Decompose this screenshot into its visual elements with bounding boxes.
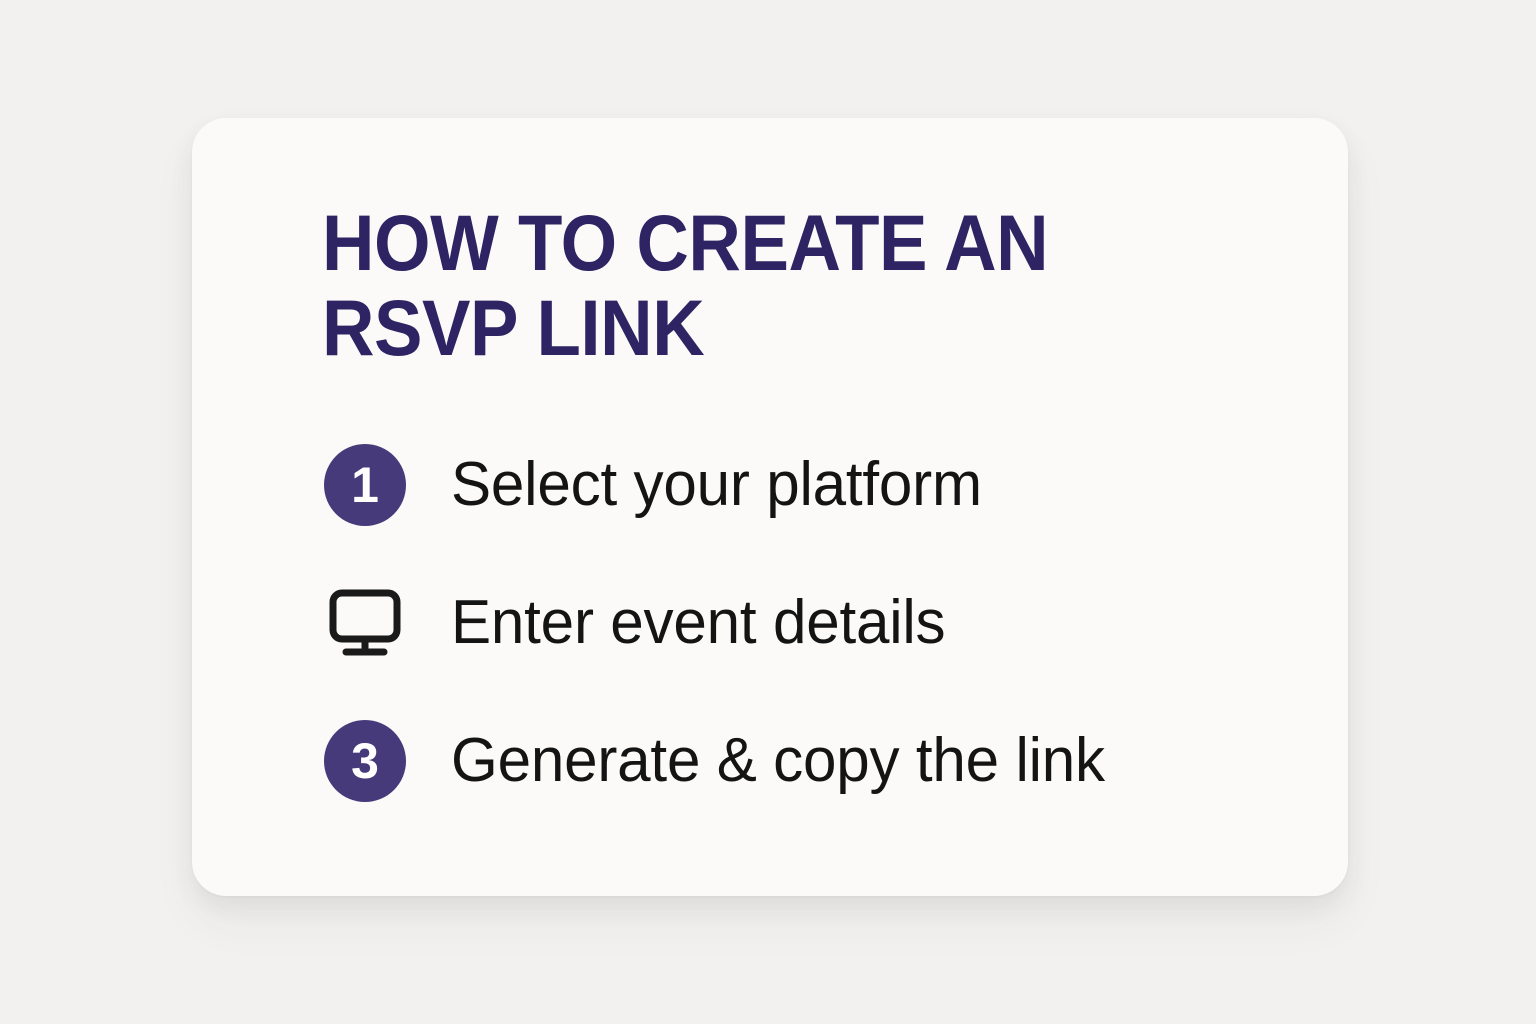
monitor-icon (323, 581, 407, 665)
steps-list: 1 Select your platform Enter event detai… (323, 416, 1283, 830)
step-marker: 3 (323, 719, 407, 803)
list-item: Enter event details (323, 554, 1283, 692)
step-marker: 1 (323, 443, 407, 527)
how-to-card: HOW TO CREATE AN RSVP LINK 1 Select your… (192, 118, 1348, 896)
page-title: HOW TO CREATE AN RSVP LINK (322, 200, 1150, 370)
step-marker (323, 581, 407, 665)
step-label: Enter event details (451, 592, 945, 654)
step-number-badge: 1 (324, 444, 406, 526)
step-label: Generate & copy the link (451, 730, 1105, 792)
list-item: 1 Select your platform (323, 416, 1283, 554)
step-label: Select your platform (451, 454, 982, 516)
list-item: 3 Generate & copy the link (323, 692, 1283, 830)
step-number-badge: 3 (324, 720, 406, 802)
